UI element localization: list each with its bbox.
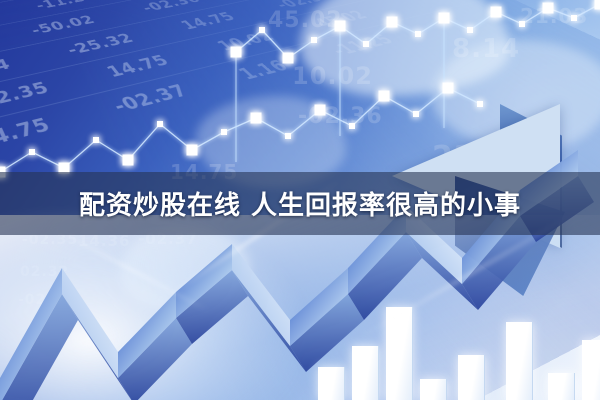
white-bar (506, 322, 533, 400)
white-bar (458, 355, 485, 400)
white-bar (548, 373, 575, 400)
stock-banner-image: -50.02-25.32-11.25-02.3645.02-25.32-11.2… (0, 0, 600, 400)
white-bar (420, 379, 447, 400)
page-title: 配资炒股在线 人生回报率很高的小事 (0, 172, 600, 235)
white-bar (352, 346, 379, 400)
white-bar (582, 340, 600, 400)
white-bar (318, 367, 345, 400)
